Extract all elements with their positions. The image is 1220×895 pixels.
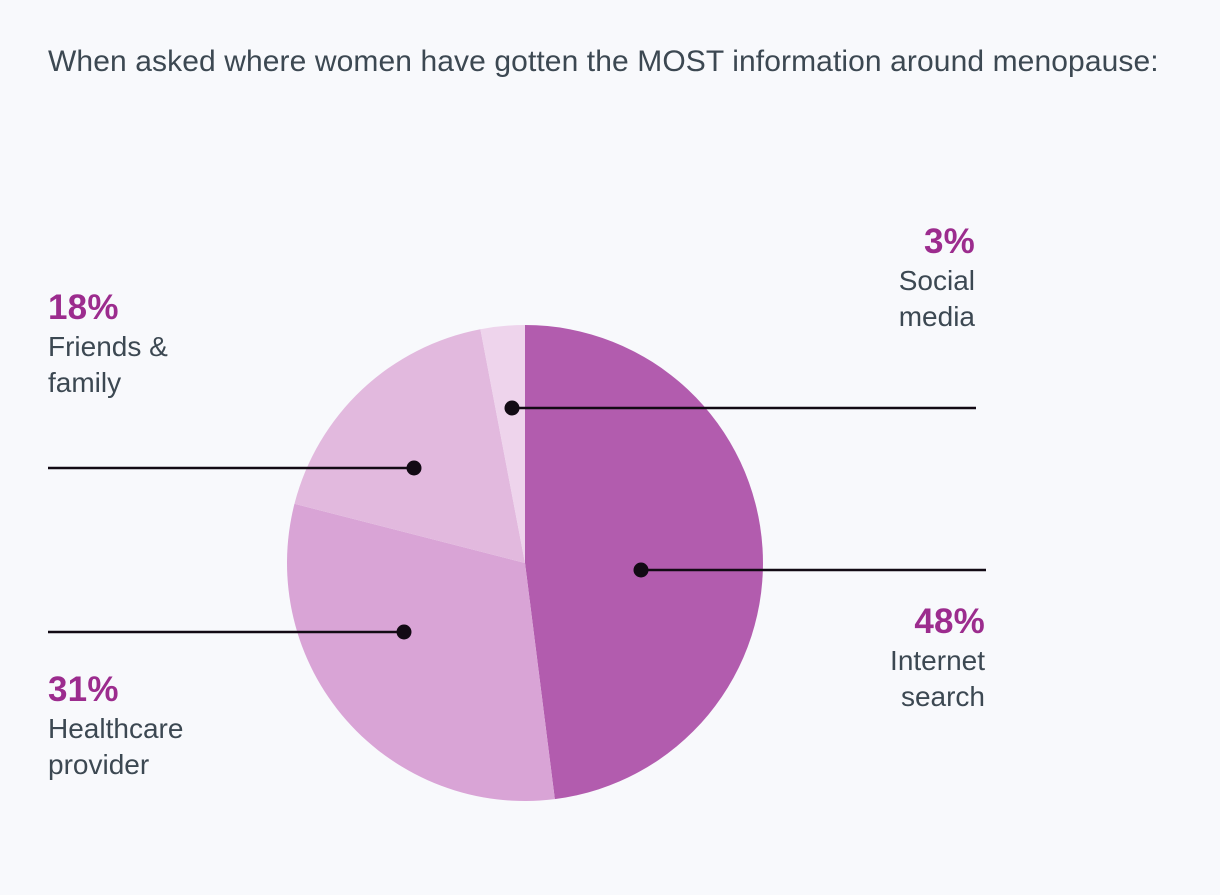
callout-social-media-label-line2: media — [645, 299, 975, 335]
leader-dot-healthcare-provider — [397, 625, 412, 640]
callout-friends-family-percent: 18% — [48, 286, 368, 329]
callout-friends-family-label-line2: family — [48, 365, 368, 401]
callout-healthcare-provider-percent: 31% — [48, 668, 368, 711]
callout-internet-search-label-line2: search — [655, 679, 985, 715]
callout-internet-search-percent: 48% — [655, 600, 985, 643]
callout-healthcare-provider-label-line1: Healthcare — [48, 711, 368, 747]
callout-friends-family: 18% Friends & family — [48, 286, 368, 401]
callout-healthcare-provider-label-line2: provider — [48, 747, 368, 783]
callout-internet-search-label-line1: Internet — [655, 643, 985, 679]
callout-healthcare-provider: 31% Healthcare provider — [48, 668, 368, 783]
pie-slice-internet-search[interactable] — [525, 325, 763, 799]
leader-dot-social-media — [505, 401, 520, 416]
callout-friends-family-label-line1: Friends & — [48, 329, 368, 365]
callout-social-media: 3% Social media — [645, 220, 975, 335]
callout-social-media-percent: 3% — [645, 220, 975, 263]
callout-internet-search: 48% Internet search — [655, 600, 985, 715]
leader-dot-friends-family — [407, 461, 422, 476]
chart-container: When asked where women have gotten the M… — [0, 0, 1220, 890]
callout-social-media-label-line1: Social — [645, 263, 975, 299]
leader-dot-internet-search — [634, 563, 649, 578]
